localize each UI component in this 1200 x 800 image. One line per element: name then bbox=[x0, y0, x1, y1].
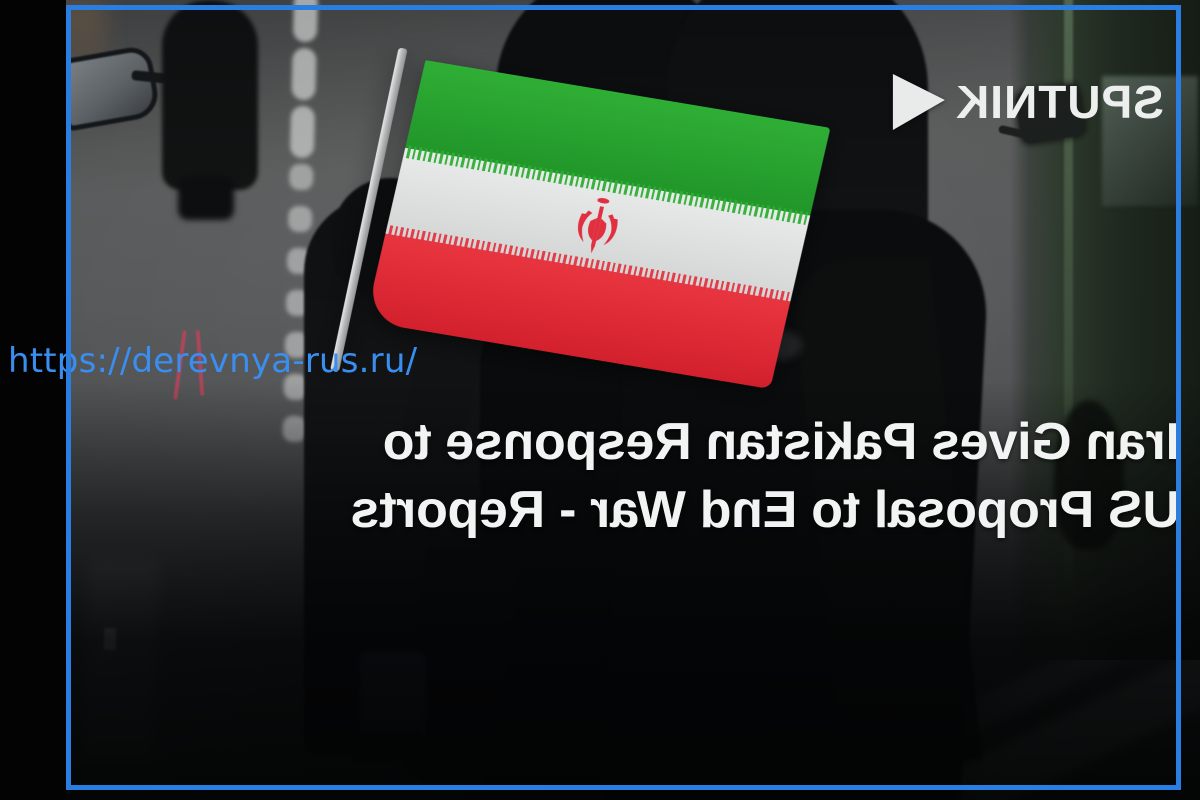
headline-line-2: US Proposal to End War - Reports bbox=[66, 476, 1180, 544]
watermark-url[interactable]: https://derevnya-rus.ru/ bbox=[8, 341, 417, 381]
left-gutter bbox=[0, 0, 66, 800]
headline-line-1: Iran Gives Pakistan Response to bbox=[66, 408, 1180, 476]
headline: Iran Gives Pakistan Response to US Propo… bbox=[66, 408, 1186, 544]
road-paint-patch bbox=[83, 559, 160, 761]
sputnik-wordmark: SPUTNIK bbox=[955, 79, 1164, 125]
sputnik-logo[interactable]: SPUTNIK bbox=[893, 74, 1164, 130]
triangle-play-icon bbox=[893, 74, 945, 130]
iran-emblem-icon bbox=[559, 192, 636, 263]
pedestrian-distant bbox=[162, 0, 258, 190]
road-paint-mark bbox=[104, 628, 117, 650]
news-share-card: SPUTNIK Iran Gives Pakistan Response to … bbox=[0, 0, 1200, 800]
